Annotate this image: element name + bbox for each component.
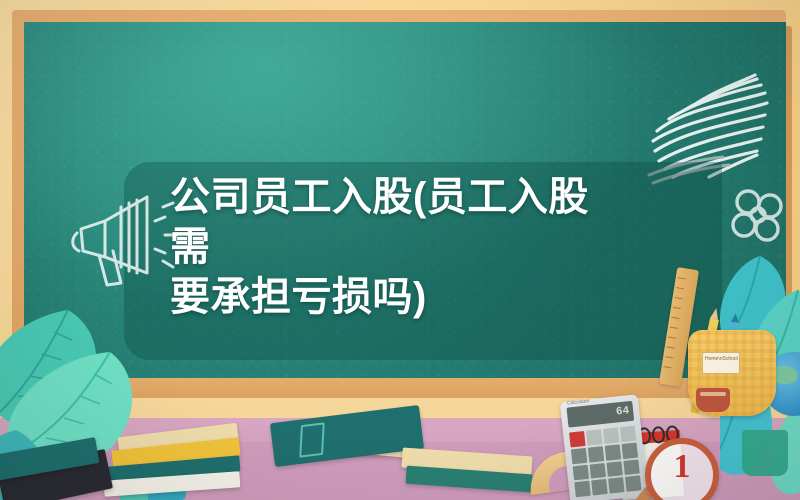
calculator-key[interactable] [605, 444, 621, 460]
magnifier-number: 1 [651, 448, 713, 486]
poster-canvas: Home\nSchool Calculator 64 [0, 0, 800, 500]
calculator-keypad[interactable] [569, 426, 641, 498]
backpack-label: Home\nSchool [702, 352, 740, 374]
calculator-key[interactable] [569, 431, 585, 447]
backpack-pocket [696, 388, 730, 412]
calculator-key[interactable] [574, 481, 590, 497]
magnifying-glass: 1 [645, 438, 719, 500]
book-teal-center-emblem [299, 422, 325, 457]
calculator-key[interactable] [623, 459, 639, 475]
flower-doodle-icon [724, 182, 786, 252]
calculator-key[interactable] [622, 442, 638, 458]
calculator-key[interactable] [603, 427, 619, 443]
calculator-key[interactable] [586, 429, 602, 445]
calculator-key[interactable] [606, 461, 622, 477]
calculator-key[interactable] [625, 476, 641, 492]
calculator-key[interactable] [571, 448, 587, 464]
backpack: Home\nSchool [688, 330, 776, 416]
calculator-key[interactable] [620, 426, 636, 442]
page-title: 公司员工入股(员工入股需要承担亏损吗) [170, 172, 610, 322]
glass-cup [742, 430, 788, 476]
calculator[interactable]: Calculator 64 [560, 394, 648, 500]
calculator-key[interactable] [608, 477, 624, 493]
calculator-key[interactable] [573, 464, 589, 480]
page-title-line2: 要承担亏损吗) [170, 275, 427, 319]
calculator-key[interactable] [588, 446, 604, 462]
calculator-key[interactable] [589, 463, 605, 479]
calculator-key[interactable] [591, 479, 607, 495]
page-title-line1: 公司员工入股(员工入股需 [170, 175, 589, 269]
